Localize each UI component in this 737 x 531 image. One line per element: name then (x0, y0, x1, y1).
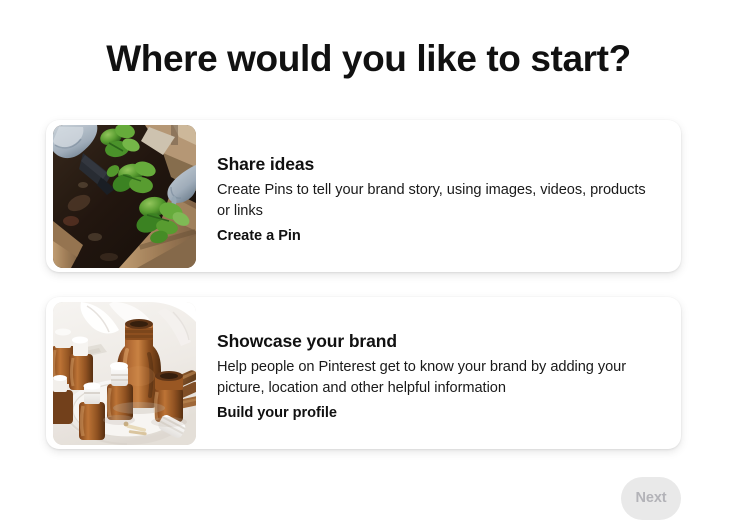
amber-bottles-photo (53, 302, 196, 445)
option-card-share-ideas[interactable]: Share ideas Create Pins to tell your bra… (46, 120, 681, 272)
gardening-seedlings-photo (53, 125, 196, 268)
card-title: Showcase your brand (217, 330, 663, 352)
footer-actions: Next (0, 477, 737, 531)
create-a-pin-link[interactable]: Create a Pin (217, 226, 301, 247)
card-body: Showcase your brand Help people on Pinte… (217, 330, 663, 424)
option-card-list: Share ideas Create Pins to tell your bra… (46, 120, 681, 474)
build-your-profile-link[interactable]: Build your profile (217, 403, 337, 424)
option-card-showcase-your-brand[interactable]: Showcase your brand Help people on Pinte… (46, 297, 681, 449)
card-description: Create Pins to tell your brand story, us… (217, 180, 647, 222)
page-title: Where would you like to start? (0, 36, 737, 82)
card-description: Help people on Pinterest get to know you… (217, 357, 647, 399)
card-body: Share ideas Create Pins to tell your bra… (217, 153, 663, 247)
next-button[interactable]: Next (621, 477, 681, 520)
card-title: Share ideas (217, 153, 663, 175)
